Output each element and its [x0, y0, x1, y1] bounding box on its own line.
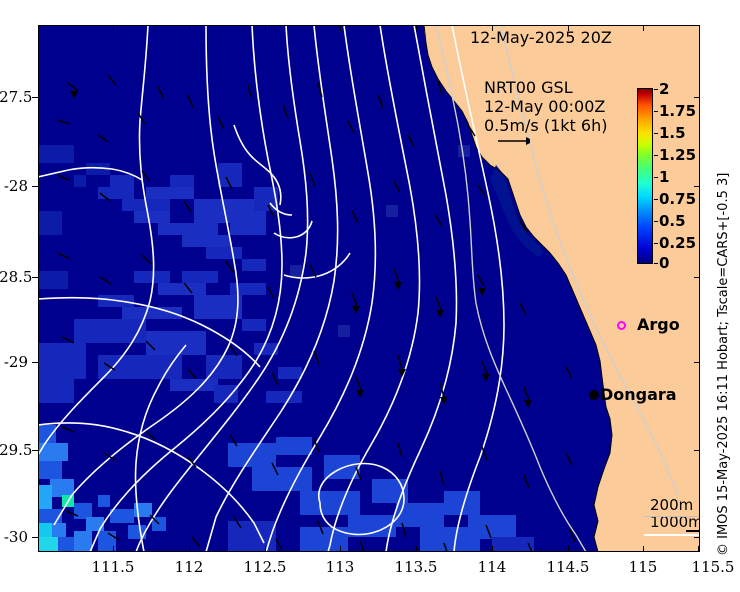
x-tick-label-113: 113: [326, 558, 355, 576]
y-tick-label-295: -29.5: [0, 441, 28, 459]
contour-legend-line-1000m: [644, 534, 700, 536]
map-plot-area[interactable]: 12-May-2025 20Z NRT00 GSL 12-May 00:00Z …: [38, 25, 700, 552]
contour-legend-200m: 200m: [650, 497, 700, 514]
x-tick-label-114: 114: [478, 558, 507, 576]
dongara-city-label: Dongara: [600, 385, 677, 404]
colorbar-gradient: [637, 88, 653, 264]
x-tick-label-1135: 113.5: [395, 558, 438, 576]
y-tick-label-275: -27.5: [0, 88, 28, 106]
current-source-line1: NRT00 GSL: [484, 78, 607, 97]
x-tick-label-1115: 111.5: [92, 558, 135, 576]
copyright-credit: © IMOS 15-May-2025 16:11 Hobart; Tscale=…: [716, 173, 731, 556]
contour-legend-tick: [686, 530, 700, 532]
colorbar[interactable]: 2 1.75 1.5 1.25 1 0.75 0.5 0.25 0: [637, 88, 653, 264]
y-tick-label-28: -28: [0, 177, 28, 195]
x-tick-label-1125: 112.5: [244, 558, 287, 576]
contour-legend: 200m 1000m: [650, 497, 700, 531]
y-tick-label-30: -30: [0, 528, 28, 546]
x-tick-label-115: 115: [629, 558, 658, 576]
oceancurrent-sst-age-map: 12-May-2025 20Z NRT00 GSL 12-May 00:00Z …: [0, 0, 740, 592]
y-tick-label-285: -28.5: [0, 268, 28, 286]
x-tick-label-1145: 114.5: [547, 558, 590, 576]
current-source-line3: 0.5m/s (1kt 6h): [484, 116, 607, 135]
y-tick-label-29: -29: [0, 353, 28, 371]
x-tick-label-112: 112: [175, 558, 204, 576]
contour-legend-line-200m: [644, 516, 700, 517]
current-source-line2: 12-May 00:00Z: [484, 97, 607, 116]
argo-marker-icon: [617, 321, 626, 330]
current-source-annotation: NRT00 GSL 12-May 00:00Z 0.5m/s (1kt 6h): [484, 78, 607, 135]
reference-arrow-icon: [496, 134, 530, 146]
x-tick-label-1155: 115.5: [692, 558, 735, 576]
dongara-marker-icon: [589, 390, 599, 400]
